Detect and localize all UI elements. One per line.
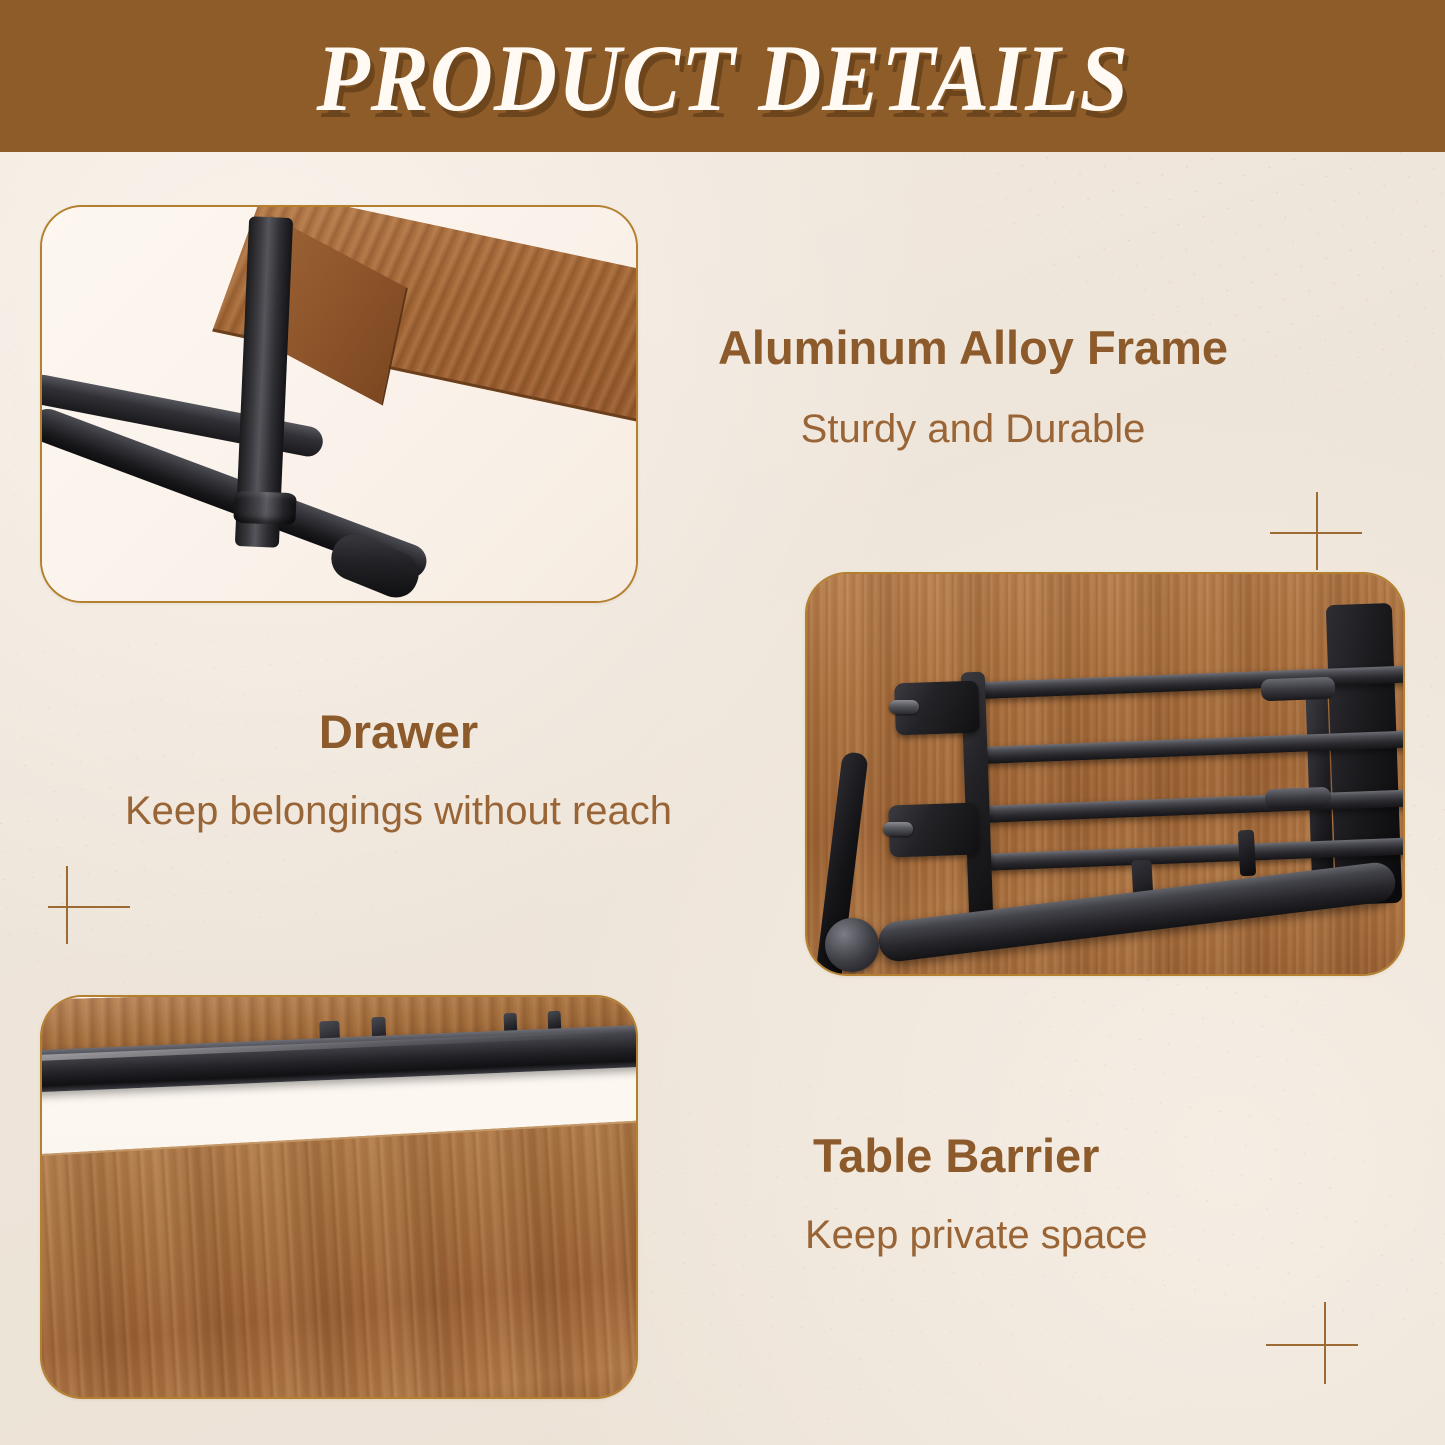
photo-panel-table-barrier bbox=[40, 995, 638, 1399]
feature-subtitle: Keep private space bbox=[805, 1212, 1325, 1258]
photo-aluminum-alloy-frame bbox=[42, 207, 636, 601]
product-details-infographic: PRODUCT DETAILS Aluminum Alloy Frame Stu… bbox=[0, 0, 1445, 1445]
feature-text-table-barrier: Table Barrier Keep private space bbox=[805, 1130, 1325, 1258]
page-title: PRODUCT DETAILS bbox=[316, 31, 1129, 126]
adjustment-knob bbox=[825, 918, 879, 972]
feature-title: Aluminum Alloy Frame bbox=[688, 322, 1258, 374]
photo-panel-drawer bbox=[805, 572, 1405, 976]
plus-vertical-stroke bbox=[1324, 1302, 1326, 1384]
photo-table-barrier bbox=[42, 997, 636, 1397]
feature-subtitle: Keep belongings without reach bbox=[86, 788, 711, 834]
plus-mark-icon bbox=[1270, 492, 1362, 570]
rail-end-clip bbox=[1261, 677, 1336, 702]
frame-right-column bbox=[1326, 603, 1402, 905]
bracket-pin bbox=[883, 822, 913, 836]
feature-title: Table Barrier bbox=[805, 1130, 1325, 1182]
feature-text-aluminum-alloy-frame: Aluminum Alloy Frame Sturdy and Durable bbox=[688, 322, 1258, 452]
rail-end-clip bbox=[1265, 787, 1332, 809]
feature-subtitle: Sturdy and Durable bbox=[688, 406, 1258, 452]
plus-mark-icon bbox=[1266, 1302, 1366, 1384]
plus-horizontal-stroke bbox=[48, 906, 130, 908]
feature-title: Drawer bbox=[86, 706, 711, 758]
plus-vertical-stroke bbox=[1316, 492, 1318, 570]
desktop-wood-surface bbox=[42, 1118, 636, 1397]
plus-vertical-stroke bbox=[66, 866, 68, 944]
feature-text-drawer: Drawer Keep belongings without reach bbox=[86, 706, 711, 834]
bracket-pin bbox=[889, 700, 919, 714]
plus-horizontal-stroke bbox=[1266, 1344, 1358, 1346]
frame-hinge bbox=[1238, 830, 1256, 877]
header-banner: PRODUCT DETAILS bbox=[0, 0, 1445, 152]
plus-mark-icon bbox=[38, 866, 130, 944]
photo-panel-aluminum-alloy-frame bbox=[40, 205, 638, 603]
photo-drawer bbox=[807, 574, 1403, 974]
leg-collar-joint bbox=[233, 491, 296, 526]
